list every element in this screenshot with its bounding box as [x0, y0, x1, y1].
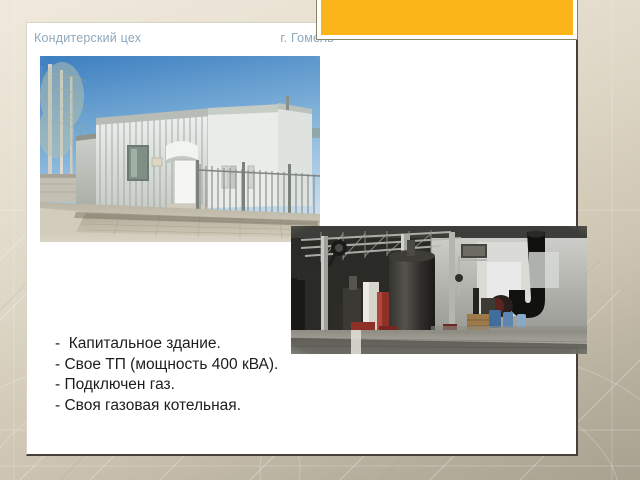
- list-item: - Подключен газ.: [55, 375, 375, 396]
- list-item: - Капитальное здание.: [55, 334, 375, 355]
- list-item: - Свое ТП (мощность 400 кВА).: [55, 355, 375, 376]
- slide-header: Кондитерский цех г. Гомель: [34, 28, 334, 48]
- page-title: Кондитерский цех: [34, 31, 141, 45]
- bullet-list: - Капитальное здание. - Свое ТП (мощност…: [55, 334, 375, 416]
- orange-banner: [316, 0, 578, 40]
- list-item: - Своя газовая котельная.: [55, 396, 375, 417]
- orange-banner-fill: [321, 0, 573, 35]
- building-exterior-photo: [40, 56, 320, 242]
- presentation-slide: Кондитерский цех г. Гомель: [0, 0, 640, 480]
